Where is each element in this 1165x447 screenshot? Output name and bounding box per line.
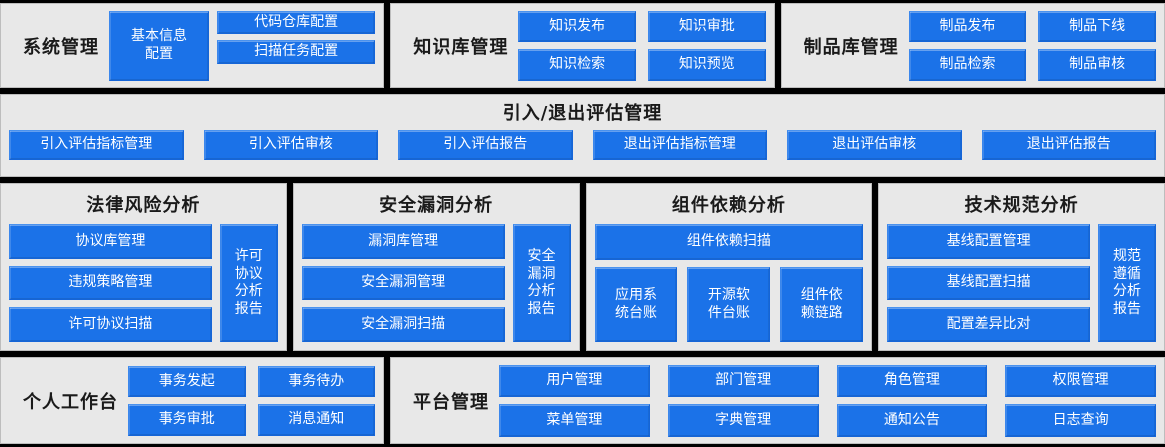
technical-specification-analysis-body: 基线配置管理 基线配置扫描 配置差异比对 规范 遵循 分析 报告 [887,224,1156,342]
platform-management-buttons: 用户管理 部门管理 角色管理 权限管理 菜单管理 字典管理 通知公告 日志查询 [499,365,1156,437]
button-security-vulnerability-management[interactable]: 安全漏洞管理 [302,266,505,301]
personal-workbench-buttons: 事务发起 事务待办 事务审批 消息通知 [128,366,375,436]
panel-title-technical-specification-analysis: 技术规范分析 [887,191,1156,217]
button-menu-management[interactable]: 菜单管理 [499,404,650,437]
legal-risk-analysis-body: 协议库管理 违规策略管理 许可协议扫描 许可 协议 分析 报告 [9,224,278,342]
panel-title-system-management: 系统管理 [9,33,109,59]
button-application-system-ledger[interactable]: 应用系 统台账 [595,267,678,342]
panel-security-vulnerability-analysis: 安全漏洞分析 漏洞库管理 安全漏洞管理 安全漏洞扫描 安全 漏洞 分析 报告 [293,183,580,351]
row-evaluation-management: 引入/退出评估管理 引入评估指标管理 引入评估审核 引入评估报告 退出评估指标管… [0,94,1165,177]
button-basic-info-config[interactable]: 基本信息 配置 [109,11,209,81]
panel-title-entry-exit-evaluation-management: 引入/退出评估管理 [9,99,1156,125]
row-analysis-modules: 法律风险分析 协议库管理 违规策略管理 许可协议扫描 许可 协议 分析 报告 安… [0,183,1165,351]
panel-title-component-dependency-analysis: 组件依赖分析 [595,191,864,217]
button-license-library-management[interactable]: 协议库管理 [9,224,212,259]
button-knowledge-preview[interactable]: 知识预览 [648,49,766,81]
button-open-source-software-ledger[interactable]: 开源软 件台账 [687,267,770,342]
panel-platform-management: 平台管理 用户管理 部门管理 角色管理 权限管理 菜单管理 字典管理 通知公告 … [390,357,1165,444]
artifact-repository-buttons: 制品发布 制品下线 制品检索 制品审核 [909,11,1156,81]
panel-knowledge-base-management: 知识库管理 知识发布 知识审批 知识检索 知识预览 [390,3,774,88]
button-notification-announcement[interactable]: 通知公告 [837,404,988,437]
button-dictionary-management[interactable]: 字典管理 [668,404,819,437]
button-log-query[interactable]: 日志查询 [1005,404,1156,437]
button-artifact-search[interactable]: 制品检索 [909,49,1027,81]
button-code-repo-config[interactable]: 代码仓库配置 [217,11,375,35]
panel-title-platform-management: 平台管理 [399,388,499,414]
button-knowledge-search[interactable]: 知识检索 [518,49,636,81]
button-message-notification[interactable]: 消息通知 [258,404,376,436]
button-role-management[interactable]: 角色管理 [837,365,988,398]
panel-title-legal-risk-analysis: 法律风险分析 [9,191,278,217]
button-component-dependency-chain[interactable]: 组件依 赖链路 [780,267,863,342]
button-task-approval[interactable]: 事务审批 [128,404,246,436]
panel-entry-exit-evaluation-management: 引入/退出评估管理 引入评估指标管理 引入评估审核 引入评估报告 退出评估指标管… [0,94,1165,177]
button-config-difference-comparison[interactable]: 配置差异比对 [887,307,1090,342]
button-exit-eval-indicator-management[interactable]: 退出评估指标管理 [593,130,768,160]
button-license-analysis-report[interactable]: 许可 协议 分析 报告 [220,224,278,342]
evaluation-buttons: 引入评估指标管理 引入评估审核 引入评估报告 退出评估指标管理 退出评估审核 退… [9,130,1156,160]
row-top-modules: 系统管理 基本信息 配置 代码仓库配置 扫描任务配置 知识库管理 知识发布 知识… [0,3,1165,88]
button-component-dependency-scan[interactable]: 组件依赖扫描 [595,224,864,260]
architecture-board: 系统管理 基本信息 配置 代码仓库配置 扫描任务配置 知识库管理 知识发布 知识… [0,0,1165,447]
panel-technical-specification-analysis: 技术规范分析 基线配置管理 基线配置扫描 配置差异比对 规范 遵循 分析 报告 [878,183,1165,351]
legal-risk-main-buttons: 协议库管理 违规策略管理 许可协议扫描 [9,224,212,342]
button-entry-eval-indicator-management[interactable]: 引入评估指标管理 [9,130,184,160]
button-artifact-offline[interactable]: 制品下线 [1038,11,1156,43]
button-specification-compliance-report[interactable]: 规范 遵循 分析 报告 [1098,224,1156,342]
security-vulnerability-main-buttons: 漏洞库管理 安全漏洞管理 安全漏洞扫描 [302,224,505,342]
panel-artifact-repository-management: 制品库管理 制品发布 制品下线 制品检索 制品审核 [781,3,1165,88]
system-management-stack: 代码仓库配置 扫描任务配置 [217,11,375,81]
component-dependency-sub-buttons: 应用系 统台账 开源软 件台账 组件依 赖链路 [595,267,864,342]
button-license-agreement-scan[interactable]: 许可协议扫描 [9,307,212,342]
security-vulnerability-analysis-body: 漏洞库管理 安全漏洞管理 安全漏洞扫描 安全 漏洞 分析 报告 [302,224,571,342]
button-security-vulnerability-scan[interactable]: 安全漏洞扫描 [302,307,505,342]
system-management-buttons: 基本信息 配置 代码仓库配置 扫描任务配置 [109,11,375,81]
button-entry-eval-review[interactable]: 引入评估审核 [204,130,379,160]
panel-title-knowledge-base-management: 知识库管理 [399,33,518,59]
button-knowledge-publish[interactable]: 知识发布 [518,11,636,43]
button-exit-eval-report[interactable]: 退出评估报告 [982,130,1157,160]
button-violation-policy-management[interactable]: 违规策略管理 [9,266,212,301]
knowledge-base-buttons: 知识发布 知识审批 知识检索 知识预览 [518,11,765,81]
panel-title-personal-workbench: 个人工作台 [9,388,128,414]
button-task-todo[interactable]: 事务待办 [258,366,376,398]
button-baseline-config-scan[interactable]: 基线配置扫描 [887,266,1090,301]
panel-title-artifact-repository-management: 制品库管理 [790,33,909,59]
panel-component-dependency-analysis: 组件依赖分析 组件依赖扫描 应用系 统台账 开源软 件台账 组件依 赖链路 [586,183,873,351]
button-baseline-config-management[interactable]: 基线配置管理 [887,224,1090,259]
panel-title-security-vulnerability-analysis: 安全漏洞分析 [302,191,571,217]
button-artifact-review[interactable]: 制品审核 [1038,49,1156,81]
panel-legal-risk-analysis: 法律风险分析 协议库管理 违规策略管理 许可协议扫描 许可 协议 分析 报告 [0,183,287,351]
button-security-vulnerability-report[interactable]: 安全 漏洞 分析 报告 [513,224,571,342]
panel-system-management: 系统管理 基本信息 配置 代码仓库配置 扫描任务配置 [0,3,384,88]
button-exit-eval-review[interactable]: 退出评估审核 [787,130,962,160]
technical-specification-main-buttons: 基线配置管理 基线配置扫描 配置差异比对 [887,224,1090,342]
row-bottom-modules: 个人工作台 事务发起 事务待办 事务审批 消息通知 平台管理 用户管理 部门管理… [0,357,1165,444]
button-vulnerability-library-management[interactable]: 漏洞库管理 [302,224,505,259]
button-entry-eval-report[interactable]: 引入评估报告 [398,130,573,160]
panel-personal-workbench: 个人工作台 事务发起 事务待办 事务审批 消息通知 [0,357,384,444]
component-dependency-analysis-body: 组件依赖扫描 应用系 统台账 开源软 件台账 组件依 赖链路 [595,224,864,342]
button-department-management[interactable]: 部门管理 [668,365,819,398]
button-user-management[interactable]: 用户管理 [499,365,650,398]
button-artifact-publish[interactable]: 制品发布 [909,11,1027,43]
button-knowledge-approval[interactable]: 知识审批 [648,11,766,43]
button-task-initiate[interactable]: 事务发起 [128,366,246,398]
button-permission-management[interactable]: 权限管理 [1005,365,1156,398]
button-scan-task-config[interactable]: 扫描任务配置 [217,40,375,64]
